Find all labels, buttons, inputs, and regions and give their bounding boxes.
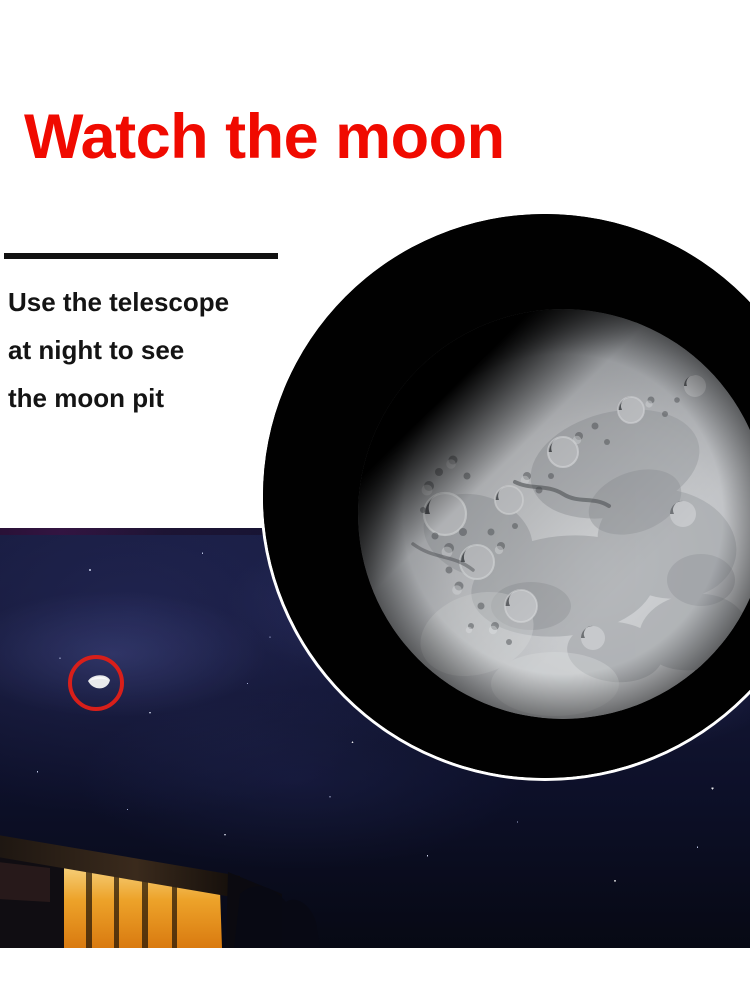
page-title: Watch the moon (24, 106, 505, 169)
title-divider (4, 253, 278, 259)
moon-highlight-circle (68, 655, 124, 711)
description-line-1: Use the telescope (8, 278, 298, 326)
building-silhouette (0, 798, 320, 948)
description-text: Use the telescope at night to see the mo… (8, 278, 298, 422)
description-line-3: the moon pit (8, 374, 298, 422)
description-line-2: at night to see (8, 326, 298, 374)
poster-canvas: Watch the moon Use the telescope at nigh… (0, 0, 750, 1000)
